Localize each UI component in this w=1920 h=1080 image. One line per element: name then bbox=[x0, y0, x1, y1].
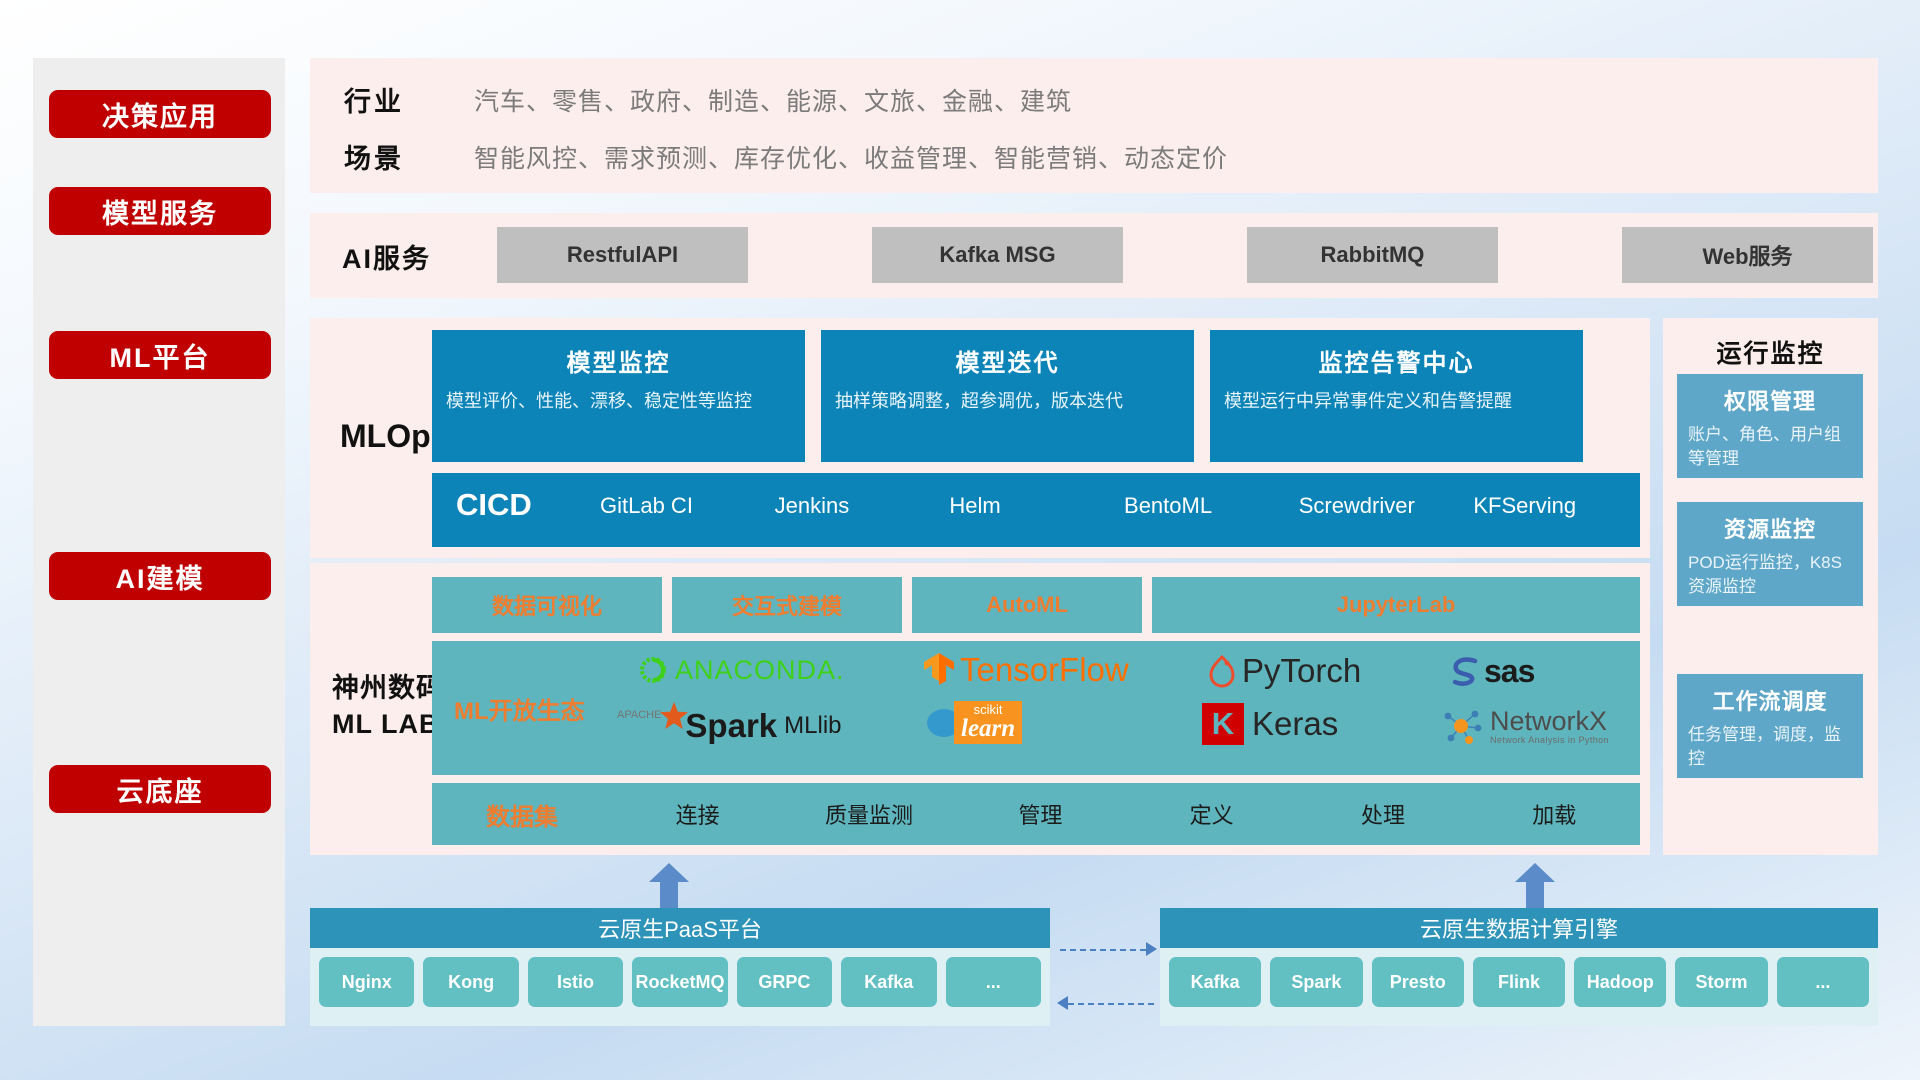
runtime-monitoring-title: 运行监控 bbox=[1663, 334, 1878, 370]
networkx-graph-icon bbox=[1442, 707, 1484, 745]
spark-wordmark: Spark bbox=[685, 707, 777, 745]
data-engine-chip-row: Kafka Spark Presto Flink Hadoop Storm ..… bbox=[1160, 948, 1878, 1016]
paas-group-header: 云原生PaaS平台 bbox=[310, 908, 1050, 948]
scenario-label: 场景 bbox=[344, 137, 474, 176]
monitor-card-desc: POD运行监控，K8S资源监控 bbox=[1677, 544, 1863, 609]
ml-open-ecosystem-label: ML开放生态 bbox=[454, 691, 585, 726]
anaconda-icon bbox=[637, 654, 669, 686]
cloud-chip-nginx[interactable]: Nginx bbox=[319, 957, 414, 1007]
dataset-title: 数据集 bbox=[432, 797, 612, 832]
industry-row: 行业 汽车、零售、政府、制造、能源、文旅、金融、建筑 bbox=[344, 80, 1072, 119]
apache-label: APACHE bbox=[617, 709, 661, 721]
cicd-item-jenkins[interactable]: Jenkins bbox=[767, 473, 942, 520]
mlops-panel: MLOps 模型监控 模型评价、性能、漂移、稳定性等监控 模型迭代 抽样策略调整… bbox=[310, 318, 1650, 558]
rail-chip-model-service[interactable]: 模型服务 bbox=[49, 187, 271, 235]
service-chip-label: Web服务 bbox=[1702, 239, 1792, 271]
tool-chip-jupyterlab[interactable]: JupyterLab bbox=[1152, 577, 1640, 633]
dataset-item-processing[interactable]: 处理 bbox=[1297, 798, 1468, 830]
pytorch-wordmark: PyTorch bbox=[1242, 652, 1361, 690]
runtime-monitoring-panel: 运行监控 权限管理 账户、角色、用户组等管理 资源监控 POD运行监控，K8S资… bbox=[1663, 318, 1878, 855]
mllib-wordmark: MLlib bbox=[784, 712, 841, 740]
ml-lab-label: 神州数码 ML LAB bbox=[332, 671, 444, 742]
ml-lab-label-line1: 神州数码 bbox=[332, 671, 444, 707]
monitor-card-resource-monitoring[interactable]: 资源监控 POD运行监控，K8S资源监控 bbox=[1677, 502, 1863, 606]
scikit-learn-logo: scikit learn bbox=[924, 701, 1022, 744]
monitor-card-desc: 账户、角色、用户组等管理 bbox=[1677, 416, 1863, 481]
mlops-card-alert-center[interactable]: 监控告警中心 模型运行中异常事件定义和告警提醒 bbox=[1210, 330, 1583, 462]
industry-list: 汽车、零售、政府、制造、能源、文旅、金融、建筑 bbox=[474, 82, 1072, 118]
cloud-chip-more[interactable]: ... bbox=[946, 957, 1041, 1007]
mlops-card-desc: 模型运行中异常事件定义和告警提醒 bbox=[1224, 389, 1569, 414]
mlops-card-title: 监控告警中心 bbox=[1210, 343, 1583, 378]
paas-up-arrow-icon bbox=[647, 863, 691, 909]
cloud-chip-kafka[interactable]: Kafka bbox=[841, 957, 936, 1007]
tool-chip-automl[interactable]: AutoML bbox=[912, 577, 1142, 633]
cloud-chip-more-2[interactable]: ... bbox=[1777, 957, 1869, 1007]
dataset-item-definition[interactable]: 定义 bbox=[1126, 798, 1297, 830]
mlops-card-desc: 抽样策略调整，超参调优，版本迭代 bbox=[835, 389, 1180, 414]
cloud-chip-presto[interactable]: Presto bbox=[1372, 957, 1464, 1007]
cicd-item-bentoml[interactable]: BentoML bbox=[1116, 473, 1291, 520]
cloud-chip-kong[interactable]: Kong bbox=[423, 957, 518, 1007]
tool-chip-data-visualization[interactable]: 数据可视化 bbox=[432, 577, 662, 633]
cicd-item-kfserving[interactable]: KFServing bbox=[1465, 473, 1640, 520]
anaconda-wordmark: ANACONDA bbox=[675, 655, 836, 686]
spark-mllib-logo: APACHE Spark MLlib bbox=[617, 707, 842, 745]
cicd-item-screwdriver[interactable]: Screwdriver bbox=[1291, 473, 1466, 520]
sas-logo: sas bbox=[1450, 653, 1534, 690]
mlops-card-model-iteration[interactable]: 模型迭代 抽样策略调整，超参调优，版本迭代 bbox=[821, 330, 1194, 462]
rail-chip-label: ML平台 bbox=[110, 336, 211, 375]
industry-label: 行业 bbox=[344, 80, 474, 119]
anaconda-logo: ANACONDA . bbox=[637, 654, 844, 686]
monitor-card-title: 工作流调度 bbox=[1677, 674, 1863, 716]
networkx-wordmark: NetworkX bbox=[1490, 708, 1609, 735]
cicd-item-helm[interactable]: Helm bbox=[941, 473, 1116, 520]
tensorflow-logo: TensorFlow bbox=[922, 651, 1129, 689]
connector-line-left bbox=[1068, 1003, 1154, 1005]
scikit-orange-box: scikit learn bbox=[954, 701, 1022, 744]
data-engine-group-header: 云原生数据计算引擎 bbox=[1160, 908, 1878, 948]
scenario-row: 场景 智能风控、需求预测、库存优化、收益管理、智能营销、动态定价 bbox=[344, 137, 1228, 176]
ai-service-label: AI服务 bbox=[342, 237, 431, 276]
keras-wordmark: Keras bbox=[1252, 705, 1338, 743]
dataset-item-loading[interactable]: 加载 bbox=[1469, 798, 1640, 830]
mlops-card-title: 模型迭代 bbox=[821, 343, 1194, 378]
connector-arrow-right-icon bbox=[1146, 942, 1157, 956]
rail-chip-cloud-base[interactable]: 云底座 bbox=[49, 765, 271, 813]
monitor-card-workflow-scheduling[interactable]: 工作流调度 任务管理，调度，监控 bbox=[1677, 674, 1863, 778]
monitor-card-title: 资源监控 bbox=[1677, 502, 1863, 544]
tool-chip-interactive-modeling[interactable]: 交互式建模 bbox=[672, 577, 902, 633]
keras-mark-letter: K bbox=[1212, 706, 1234, 742]
learn-word: learn bbox=[961, 717, 1015, 741]
tensorflow-wordmark: TensorFlow bbox=[960, 651, 1129, 689]
keras-mark-icon: K bbox=[1202, 703, 1244, 745]
networkx-wordmark-block: NetworkX Network Analysis in Python bbox=[1490, 708, 1609, 745]
monitor-card-desc: 任务管理，调度，监控 bbox=[1677, 716, 1863, 781]
keras-logo: K Keras bbox=[1202, 703, 1338, 745]
networkx-logo: NetworkX Network Analysis in Python bbox=[1442, 707, 1609, 745]
cloud-chip-kafka-2[interactable]: Kafka bbox=[1169, 957, 1261, 1007]
service-chip-restfulapi[interactable]: RestfulAPI bbox=[497, 227, 748, 283]
tool-chip-label: AutoML bbox=[986, 592, 1068, 618]
cloud-chip-rocketmq[interactable]: RocketMQ bbox=[632, 957, 727, 1007]
paas-chip-row: Nginx Kong Istio RocketMQ GRPC Kafka ... bbox=[310, 948, 1050, 1016]
service-chip-label: RestfulAPI bbox=[567, 242, 678, 268]
anaconda-dot: . bbox=[836, 655, 844, 686]
dataset-bar: 数据集 连接 质量监测 管理 定义 处理 加载 bbox=[432, 783, 1640, 845]
sas-wordmark: sas bbox=[1484, 653, 1534, 690]
ml-open-ecosystem-box: ML开放生态 ANACONDA . TensorFlow bbox=[432, 641, 1640, 775]
pytorch-icon bbox=[1207, 654, 1237, 688]
connector-arrow-left-icon bbox=[1057, 996, 1068, 1010]
rail-chip-ml-platform[interactable]: ML平台 bbox=[49, 331, 271, 379]
tool-chip-label: 交互式建模 bbox=[732, 589, 842, 621]
service-chip-kafka-msg[interactable]: Kafka MSG bbox=[872, 227, 1123, 283]
service-chip-label: Kafka MSG bbox=[939, 242, 1055, 268]
decision-apps-panel: 行业 汽车、零售、政府、制造、能源、文旅、金融、建筑 场景 智能风控、需求预测、… bbox=[310, 58, 1878, 193]
dataset-item-management[interactable]: 管理 bbox=[955, 798, 1126, 830]
rail-chip-label: 决策应用 bbox=[102, 95, 218, 134]
monitor-card-permission-management[interactable]: 权限管理 账户、角色、用户组等管理 bbox=[1677, 374, 1863, 478]
cloud-chip-hadoop[interactable]: Hadoop bbox=[1574, 957, 1666, 1007]
pytorch-logo: PyTorch bbox=[1207, 652, 1361, 690]
networkx-tagline: Network Analysis in Python bbox=[1490, 735, 1609, 745]
rail-chip-label: AI建模 bbox=[116, 557, 205, 596]
tensorflow-icon bbox=[922, 651, 956, 689]
dataset-item-connect[interactable]: 连接 bbox=[612, 798, 783, 830]
rail-chip-decision-apps[interactable]: 决策应用 bbox=[49, 90, 271, 138]
scenario-list: 智能风控、需求预测、库存优化、收益管理、智能营销、动态定价 bbox=[474, 139, 1228, 175]
sas-icon bbox=[1450, 656, 1484, 688]
ai-modeling-panel: 神州数码 ML LAB 数据可视化 交互式建模 AutoML JupyterLa… bbox=[310, 563, 1650, 855]
data-engine-group: 云原生数据计算引擎 Kafka Spark Presto Flink Hadoo… bbox=[1160, 908, 1878, 1026]
service-chip-rabbitmq[interactable]: RabbitMQ bbox=[1247, 227, 1498, 283]
layer-rail: 决策应用 模型服务 ML平台 AI建模 云底座 bbox=[33, 58, 285, 1026]
dataset-item-quality-monitoring[interactable]: 质量监测 bbox=[783, 798, 954, 830]
cicd-title: CICD bbox=[442, 473, 592, 523]
service-chip-web-service[interactable]: Web服务 bbox=[1622, 227, 1873, 283]
mlops-card-model-monitoring[interactable]: 模型监控 模型评价、性能、漂移、稳定性等监控 bbox=[432, 330, 805, 462]
mlops-card-desc: 模型评价、性能、漂移、稳定性等监控 bbox=[446, 389, 791, 414]
architecture-diagram: 决策应用 模型服务 ML平台 AI建模 云底座 行业 汽车、零售、政府、制造、能… bbox=[0, 0, 1920, 1080]
cloud-chip-spark[interactable]: Spark bbox=[1270, 957, 1362, 1007]
connector-line-right bbox=[1060, 949, 1146, 951]
rail-chip-label: 云底座 bbox=[117, 770, 204, 809]
rail-chip-ai-modeling[interactable]: AI建模 bbox=[49, 552, 271, 600]
data-engine-up-arrow-icon bbox=[1513, 863, 1557, 909]
spark-star-icon bbox=[659, 701, 689, 731]
tool-chip-label: JupyterLab bbox=[1337, 592, 1456, 618]
service-chip-label: RabbitMQ bbox=[1321, 242, 1425, 268]
cloud-chip-istio[interactable]: Istio bbox=[528, 957, 623, 1007]
paas-group: 云原生PaaS平台 Nginx Kong Istio RocketMQ GRPC… bbox=[310, 908, 1050, 1026]
monitor-card-title: 权限管理 bbox=[1677, 374, 1863, 416]
cicd-bar: CICD GitLab CI Jenkins Helm BentoML Scre… bbox=[432, 473, 1640, 547]
cloud-chip-storm[interactable]: Storm bbox=[1675, 957, 1767, 1007]
cloud-chip-grpc[interactable]: GRPC bbox=[737, 957, 832, 1007]
cloud-chip-flink[interactable]: Flink bbox=[1473, 957, 1565, 1007]
cicd-item-gitlab-ci[interactable]: GitLab CI bbox=[592, 473, 767, 520]
mlops-card-title: 模型监控 bbox=[432, 343, 805, 378]
tool-chip-label: 数据可视化 bbox=[492, 589, 602, 621]
ml-lab-label-line2: ML LAB bbox=[332, 707, 444, 743]
rail-chip-label: 模型服务 bbox=[102, 192, 218, 231]
ai-service-panel: AI服务 RestfulAPI Kafka MSG RabbitMQ Web服务 bbox=[310, 213, 1878, 298]
